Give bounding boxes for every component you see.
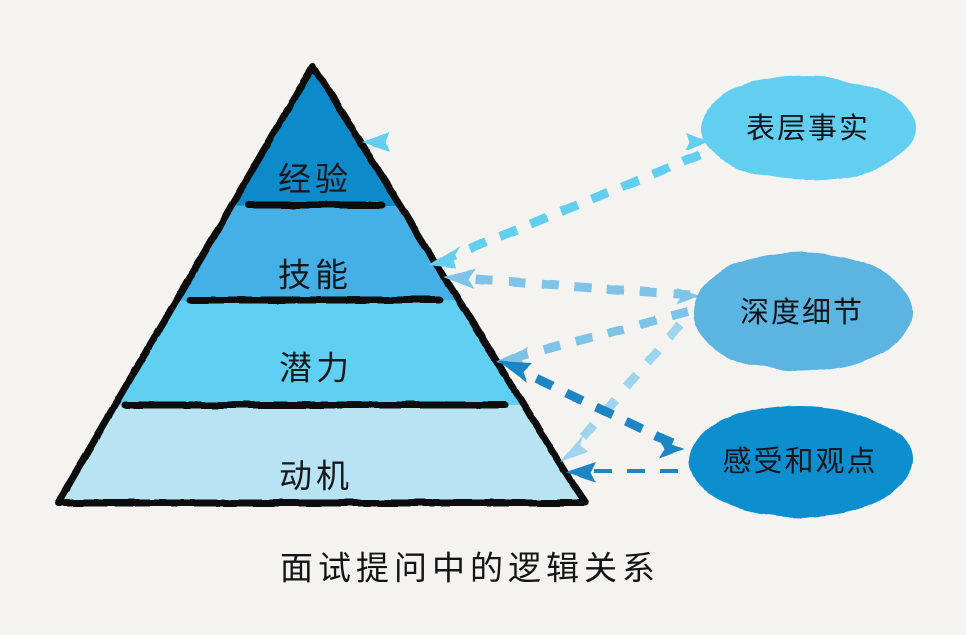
tier-3-label: 潜力 xyxy=(279,349,353,388)
bubble-feelings-opinions[interactable]: 感受和观点 xyxy=(688,405,912,517)
bubble-feelings-opinions-label: 感受和观点 xyxy=(722,444,877,478)
arrowhead xyxy=(560,434,588,462)
conn-deep-to-potential[interactable] xyxy=(496,312,688,368)
diagram-canvas: 经验 技能 潜力 动机 xyxy=(0,0,966,635)
conn-surface-to-experience[interactable] xyxy=(362,132,709,152)
bubble-surface-facts-label: 表层事实 xyxy=(746,111,870,145)
conn-feelings-to-motivation[interactable] xyxy=(566,462,678,482)
bubble-deep-details-label: 深度细节 xyxy=(740,295,864,329)
conn-surface-to-skill[interactable] xyxy=(428,155,700,268)
tier-4-label: 动机 xyxy=(279,457,353,496)
bubble-group: 表层事实 深度细节 感受和观点 xyxy=(688,76,916,517)
tier-2-label: 技能 xyxy=(278,256,352,295)
conn-deep-to-skill[interactable] xyxy=(443,269,700,305)
bubble-deep-details[interactable]: 深度细节 xyxy=(692,252,912,372)
pyramid-diagram: 经验 技能 潜力 动机 xyxy=(0,0,966,635)
bubble-surface-facts[interactable]: 表层事实 xyxy=(700,76,916,180)
tier-1-label: 经验 xyxy=(278,160,352,199)
diagram-caption: 面试提问中的逻辑关系 xyxy=(280,549,660,588)
